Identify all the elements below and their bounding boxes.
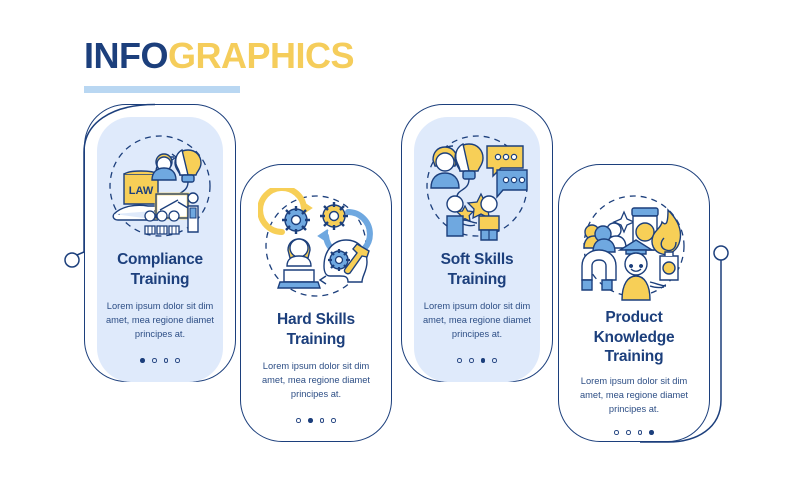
card-title-line: Training	[441, 270, 514, 290]
step-dot[interactable]	[457, 358, 462, 363]
step-dot[interactable]	[492, 358, 497, 363]
step-dots[interactable]	[140, 358, 179, 363]
card-title-line: Training	[594, 347, 675, 367]
card-product-knowledge[interactable]: Product Knowledge Training Lorem ipsum d…	[558, 164, 710, 442]
step-dots[interactable]	[296, 418, 335, 423]
svg-text:LAW: LAW	[129, 185, 154, 197]
card-title-line: Hard Skills	[277, 310, 355, 330]
timeline-end-node	[714, 246, 728, 260]
timeline-start-node	[65, 253, 79, 267]
soft-skills-communication-icon	[419, 128, 535, 244]
step-dot[interactable]	[308, 418, 313, 423]
card-hard-skills[interactable]: Hard Skills Training Lorem ipsum dolor s…	[240, 164, 392, 442]
card-title-line: Product	[594, 308, 675, 328]
step-dot[interactable]	[140, 358, 145, 363]
step-dot[interactable]	[481, 358, 486, 363]
card-title: Hard Skills Training	[277, 310, 355, 349]
card-description: Lorem ipsum dolor sit dim amet, mea regi…	[250, 359, 382, 401]
step-dot[interactable]	[638, 430, 643, 435]
card-title: Compliance Training	[117, 250, 203, 289]
step-dot[interactable]	[164, 358, 169, 363]
card-soft-skills[interactable]: Soft Skills Training Lorem ipsum dolor s…	[401, 104, 553, 382]
step-dot[interactable]	[296, 418, 301, 423]
step-dots[interactable]	[614, 430, 653, 435]
card-title-line: Training	[117, 270, 203, 290]
product-knowledge-icon	[576, 188, 692, 304]
step-dot[interactable]	[152, 358, 157, 363]
card-description: Lorem ipsum dolor sit dim amet, mea regi…	[568, 374, 700, 416]
step-dot[interactable]	[175, 358, 180, 363]
card-title-line: Knowledge	[594, 328, 675, 348]
card-title-line: Soft Skills	[441, 250, 514, 270]
card-description: Lorem ipsum dolor sit dim amet, mea regi…	[94, 299, 226, 341]
step-dot[interactable]	[320, 418, 325, 423]
card-title-line: Compliance	[117, 250, 203, 270]
step-dot[interactable]	[626, 430, 631, 435]
step-dot[interactable]	[331, 418, 336, 423]
step-dot[interactable]	[469, 358, 474, 363]
card-compliance[interactable]: LAW	[84, 104, 236, 382]
card-title-line: Training	[277, 330, 355, 350]
card-title: Soft Skills Training	[441, 250, 514, 289]
card-description: Lorem ipsum dolor sit dim amet, mea regi…	[411, 299, 543, 341]
step-dots[interactable]	[457, 358, 496, 363]
hard-skills-gears-icon	[258, 188, 374, 304]
compliance-law-training-icon: LAW	[102, 128, 218, 244]
card-title: Product Knowledge Training	[594, 308, 675, 367]
step-dot[interactable]	[649, 430, 654, 435]
step-dot[interactable]	[614, 430, 619, 435]
